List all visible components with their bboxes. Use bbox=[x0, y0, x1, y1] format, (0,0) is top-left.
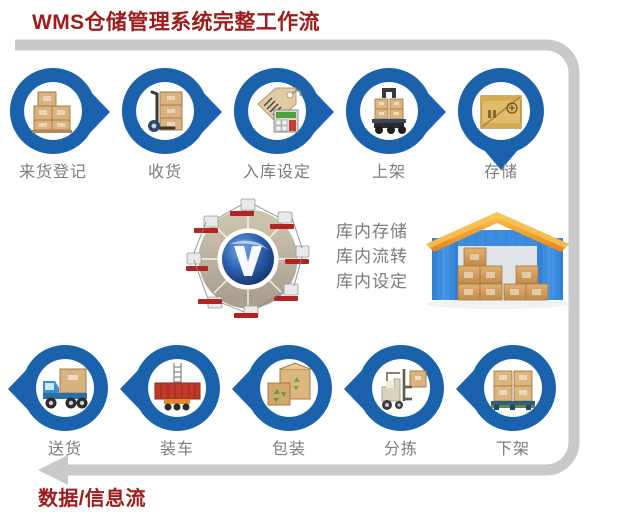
package-boxes-icon bbox=[262, 361, 316, 415]
hub-line-3: 库内设定 bbox=[336, 269, 408, 294]
flow-node-label: 分拣 bbox=[340, 435, 462, 459]
flow-node-putaway[interactable]: 上架 bbox=[344, 66, 434, 158]
data-flow-label: 数据/信息流 bbox=[38, 482, 146, 511]
flow-node-label: 装车 bbox=[116, 435, 238, 459]
inventory-hub-icon bbox=[186, 198, 310, 320]
wooden-crate-icon bbox=[474, 84, 528, 138]
flow-node-label: 送货 bbox=[4, 435, 126, 459]
container-load-icon bbox=[150, 361, 204, 415]
flow-node-label: 存储 bbox=[440, 158, 562, 182]
barcode-tag-icon bbox=[250, 84, 304, 138]
stacked-boxes-icon bbox=[26, 84, 80, 138]
flow-node-label: 下架 bbox=[452, 435, 574, 459]
flow-node-label: 收货 bbox=[104, 158, 226, 182]
flow-node-inbound-setup[interactable]: 入库设定 bbox=[232, 66, 322, 158]
flow-node-storage[interactable]: 存储 bbox=[456, 66, 546, 158]
workflow-diagram: WMS仓储管理系统完整工作流 bbox=[0, 0, 629, 515]
flow-node-packaging[interactable]: 包装 bbox=[244, 343, 334, 435]
flow-node-label: 包装 bbox=[228, 435, 350, 459]
flow-node-label: 上架 bbox=[328, 158, 450, 182]
flow-node-delivery[interactable]: 送货 bbox=[20, 343, 110, 435]
warehouse-building-icon bbox=[420, 208, 575, 313]
delivery-truck-icon bbox=[38, 361, 92, 415]
hand-truck-icon bbox=[138, 84, 192, 138]
pallet-boxes-icon bbox=[486, 361, 540, 415]
hub-line-2: 库内流转 bbox=[336, 244, 408, 269]
flow-node-picking[interactable]: 下架 bbox=[468, 343, 558, 435]
hub-line-1: 库内存储 bbox=[336, 219, 408, 244]
flow-node-receiving-registration[interactable]: 来货登记 bbox=[8, 66, 98, 158]
inventory-hub-text: 库内存储 库内流转 库内设定 bbox=[336, 219, 408, 294]
flow-node-goods-receipt[interactable]: 收货 bbox=[120, 66, 210, 158]
forklift-icon bbox=[374, 361, 428, 415]
flow-node-loading[interactable]: 装车 bbox=[132, 343, 222, 435]
flow-node-label: 来货登记 bbox=[0, 158, 114, 182]
flow-node-label: 入库设定 bbox=[216, 158, 338, 182]
page-title: WMS仓储管理系统完整工作流 bbox=[32, 6, 320, 36]
shelf-lift-icon bbox=[362, 84, 416, 138]
flow-node-sorting[interactable]: 分拣 bbox=[356, 343, 446, 435]
